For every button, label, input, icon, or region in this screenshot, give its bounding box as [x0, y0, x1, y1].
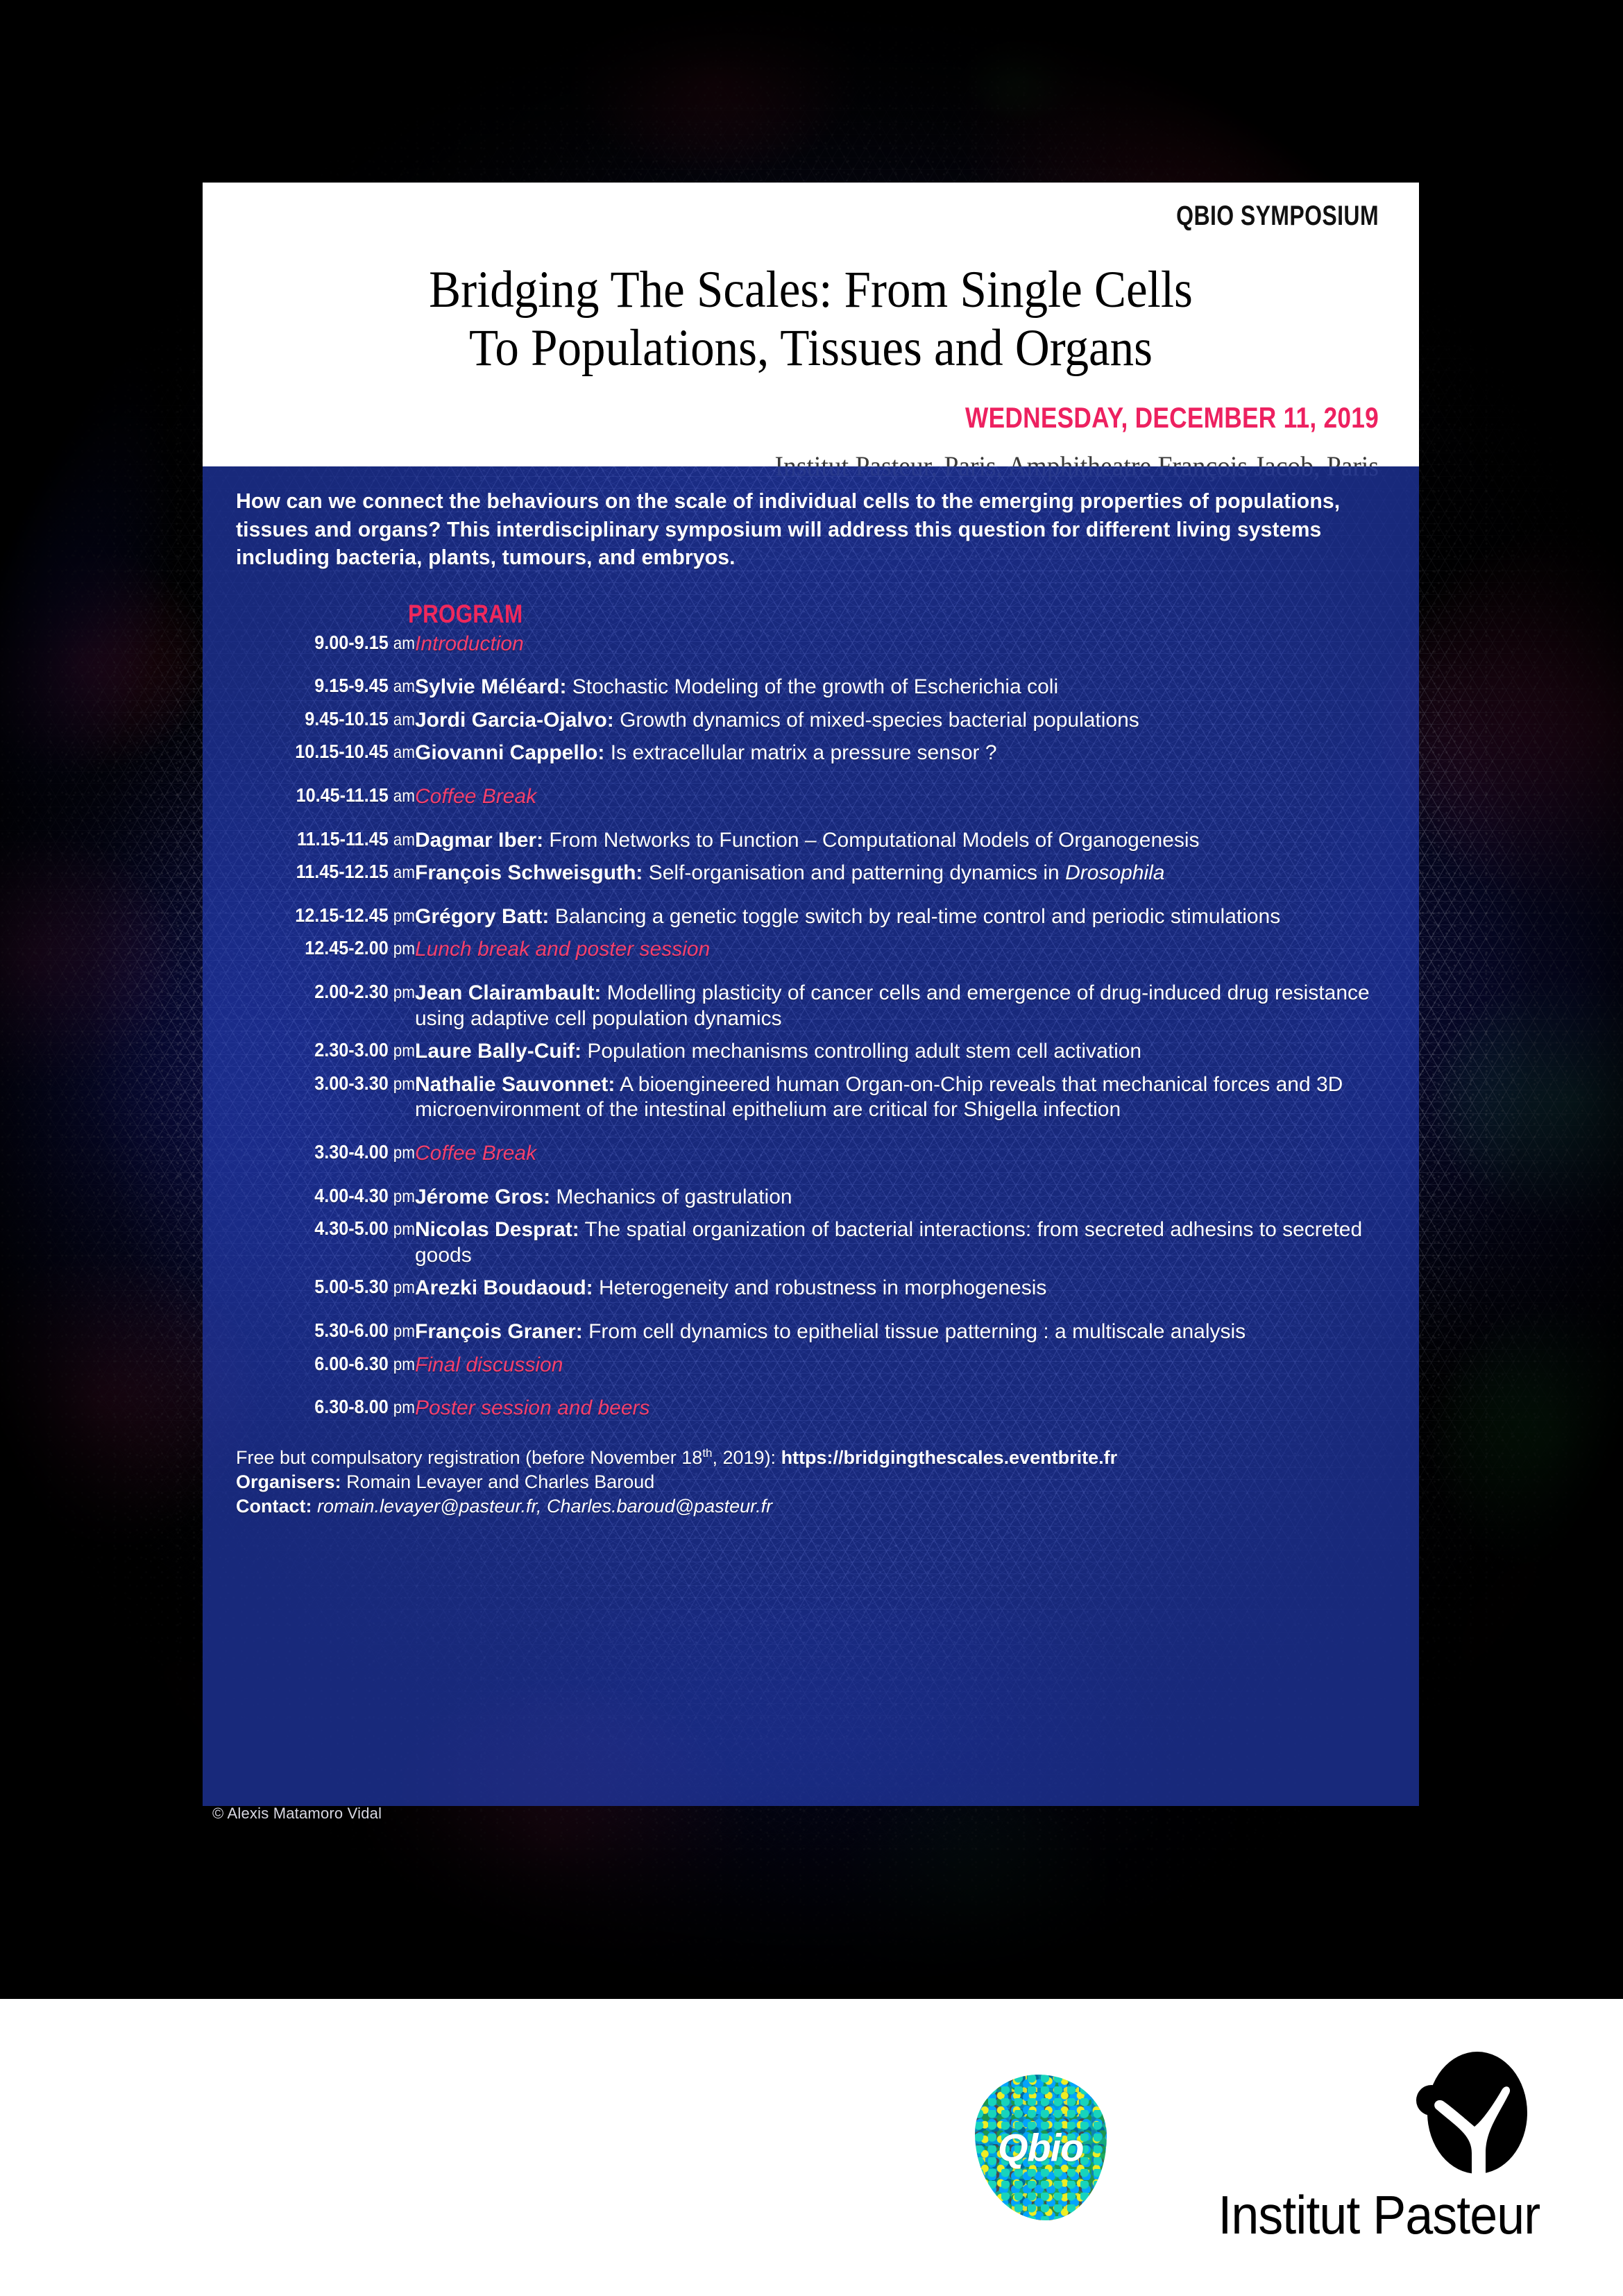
organisers-value: Romain Levayer and Charles Baroud — [341, 1471, 655, 1492]
organisers-line: Organisers: Romain Levayer and Charles B… — [236, 1470, 1386, 1494]
program-row-title: Lunch break and poster session — [415, 938, 710, 961]
program-row: 4.30-5.00 pmNicolas Desprat: The spatial… — [236, 1217, 1386, 1276]
program-row: 9.45-10.15 amJordi Garcia-Ojalvo: Growth… — [236, 708, 1386, 741]
program-row-description: François Schweisguth: Self-organisation … — [415, 861, 1386, 904]
program-row: 11.45-12.15 amFrançois Schweisguth: Self… — [236, 861, 1386, 904]
program-row-time: 9.45-10.15 am — [254, 708, 415, 741]
program-row-ampm: pm — [393, 1219, 415, 1239]
program-row-description: Jordi Garcia-Ojalvo: Growth dynamics of … — [415, 708, 1386, 741]
program-row-title: Stochastic Modeling of the growth of Esc… — [566, 675, 1058, 698]
poster-root: QBIO SYMPOSIUM Bridging The Scales: From… — [0, 0, 1623, 2296]
program-row-ampm: pm — [393, 1322, 415, 1341]
program-row-title: Coffee Break — [415, 785, 536, 808]
program-row-time: 3.30-4.00 pm — [254, 1141, 415, 1185]
program-row-time: 12.45-2.00 pm — [254, 937, 415, 981]
program-row-time: 9.15-9.45 am — [254, 675, 415, 708]
program-row-title: From cell dynamics to epithelial tissue … — [583, 1320, 1246, 1343]
contact-line: Contact: romain.levayer@pasteur.fr, Char… — [236, 1494, 1386, 1519]
program-row: 4.00-4.30 pmJérome Gros: Mechanics of ga… — [236, 1185, 1386, 1218]
program-row-speaker: Dagmar Iber: — [415, 829, 543, 852]
program-row-time: 11.45-12.15 am — [254, 861, 415, 904]
program-row-title: Self-organisation and patterning dynamic… — [643, 861, 1065, 884]
organisers-label: Organisers: — [236, 1471, 341, 1492]
program-row-speaker: Arezki Boudaoud: — [415, 1276, 593, 1299]
footer-notes: Free but compulsatory registration (befo… — [236, 1446, 1386, 1519]
event-date: WEDNESDAY, DECEMBER 11, 2019 — [425, 401, 1379, 434]
pasteur-figure-icon — [1408, 2049, 1540, 2188]
program-row-title: Population mechanisms controlling adult … — [581, 1040, 1141, 1063]
program-row-time: 4.30-5.00 pm — [254, 1217, 415, 1276]
institut-pasteur-label: Institut Pasteur — [1218, 2184, 1540, 2247]
program-row: 12.15-12.45 pmGrégory Batt: Balancing a … — [236, 904, 1386, 938]
program-row-time: 9.00-9.15 am — [254, 632, 415, 675]
program-row-ampm: am — [393, 863, 415, 882]
program-row-time: 2.00-2.30 pm — [254, 981, 415, 1039]
program-row: 5.30-6.00 pmFrançois Graner: From cell d… — [236, 1319, 1386, 1353]
program-row-ampm: pm — [393, 1187, 415, 1206]
program-row-speaker: Nicolas Desprat: — [415, 1218, 579, 1241]
program-row-time: 5.00-5.30 pm — [254, 1276, 415, 1319]
program-row-time: 6.30-8.00 pm — [254, 1396, 415, 1429]
program-row-description: Laure Bally-Cuif: Population mechanisms … — [415, 1039, 1386, 1072]
program-row: 9.00-9.15 amIntroduction — [236, 632, 1386, 675]
page-title: Bridging The Scales: From Single Cells T… — [288, 261, 1333, 378]
program-row: 5.00-5.30 pmArezki Boudaoud: Heterogenei… — [236, 1276, 1386, 1319]
program-row: 6.00-6.30 pmFinal discussion — [236, 1353, 1386, 1396]
title-line-1: Bridging The Scales: From Single Cells — [288, 261, 1333, 319]
program-row-ampm: pm — [393, 1355, 415, 1374]
program-row-speaker: François Graner: — [415, 1320, 583, 1343]
program-row-description: Coffee Break — [415, 1141, 1386, 1185]
program-row-title: From Networks to Function – Computationa… — [543, 829, 1199, 852]
registration-mid: , 2019): — [713, 1447, 781, 1468]
program-row-title: Balancing a genetic toggle switch by rea… — [549, 905, 1280, 928]
program-row-description: Coffee Break — [415, 784, 1386, 828]
program-row-time: 10.15-10.45 am — [254, 741, 415, 784]
program-row-speaker: Nathalie Sauvonnet: — [415, 1073, 615, 1096]
program-row-description: Sylvie Méléard: Stochastic Modeling of t… — [415, 675, 1386, 708]
program-row: 2.30-3.00 pmLaure Bally-Cuif: Population… — [236, 1039, 1386, 1072]
program-row-title-italic: Drosophila — [1065, 861, 1164, 884]
program-row-ampm: am — [393, 677, 415, 696]
program-row-time: 12.15-12.45 pm — [254, 904, 415, 938]
program-row-ampm: am — [393, 743, 415, 762]
program-row-speaker: Laure Bally-Cuif: — [415, 1040, 581, 1063]
program-row-speaker: Jérome Gros: — [415, 1185, 550, 1208]
registration-sup: th — [702, 1446, 712, 1460]
qbio-logo-label: Qbio — [975, 2125, 1107, 2170]
program-row-description: Jean Clairambault: Modelling plasticity … — [415, 981, 1386, 1039]
program-row-time: 3.00-3.30 pm — [254, 1072, 415, 1141]
contact-value[interactable]: romain.levayer@pasteur.fr, Charles.barou… — [312, 1496, 773, 1517]
program-row-title: Is extracellular matrix a pressure senso… — [604, 741, 996, 764]
program-row-time: 10.45-11.15 am — [254, 784, 415, 828]
program-row-title: Introduction — [415, 632, 524, 655]
program-row: 2.00-2.30 pmJean Clairambault: Modelling… — [236, 981, 1386, 1039]
program-panel: How can we connect the behaviours on the… — [203, 466, 1419, 1806]
program-row-description: François Graner: From cell dynamics to e… — [415, 1319, 1386, 1353]
program-row-ampm: pm — [393, 1398, 415, 1417]
program-row-ampm: pm — [393, 983, 415, 1002]
program-row-ampm: am — [393, 634, 415, 653]
program-row-description: Dagmar Iber: From Networks to Function –… — [415, 828, 1386, 861]
program-row: 12.45-2.00 pmLunch break and poster sess… — [236, 937, 1386, 981]
program-row-description: Nicolas Desprat: The spatial organizatio… — [415, 1217, 1386, 1276]
program-row-ampm: am — [393, 710, 415, 729]
program-row-time: 5.30-6.00 pm — [254, 1319, 415, 1353]
program-row-ampm: pm — [393, 1278, 415, 1297]
contact-label: Contact: — [236, 1496, 312, 1517]
program-row-description: Final discussion — [415, 1353, 1386, 1396]
program-row-description: Jérome Gros: Mechanics of gastrulation — [415, 1185, 1386, 1218]
program-row-time: 2.30-3.00 pm — [254, 1039, 415, 1072]
program-row-ampm: pm — [393, 906, 415, 926]
image-credit: © Alexis Matamoro Vidal — [212, 1805, 382, 1823]
program-row-description: Giovanni Cappello: Is extracellular matr… — [415, 741, 1386, 784]
program-row: 3.00-3.30 pmNathalie Sauvonnet: A bioeng… — [236, 1072, 1386, 1141]
logo-footer: Qbio Institut Pasteur — [0, 1999, 1623, 2296]
registration-prefix: Free but compulsatory registration (befo… — [236, 1447, 702, 1468]
program-row-time: 6.00-6.30 pm — [254, 1353, 415, 1396]
program-row-time: 11.15-11.45 am — [254, 828, 415, 861]
program-row: 3.30-4.00 pmCoffee Break — [236, 1141, 1386, 1185]
program-row: 10.45-11.15 amCoffee Break — [236, 784, 1386, 828]
program-row-speaker: Sylvie Méléard: — [415, 675, 566, 698]
program-table: 9.00-9.15 amIntroduction9.15-9.45 amSylv… — [236, 632, 1386, 1429]
program-row-description: Introduction — [415, 632, 1386, 675]
program-heading: PROGRAM — [408, 600, 1239, 629]
program-row-speaker: Giovanni Cappello: — [415, 741, 604, 764]
program-row-speaker: Jean Clairambault: — [415, 981, 601, 1004]
program-row-ampm: pm — [393, 1041, 415, 1061]
registration-url[interactable]: https://bridgingthescales.eventbrite.fr — [781, 1447, 1118, 1468]
header-card: QBIO SYMPOSIUM Bridging The Scales: From… — [203, 183, 1419, 466]
program-row: 11.15-11.45 amDagmar Iber: From Networks… — [236, 828, 1386, 861]
registration-line: Free but compulsatory registration (befo… — [236, 1446, 1386, 1470]
program-row-speaker: Jordi Garcia-Ojalvo: — [415, 709, 614, 732]
symposium-kicker: QBIO SYMPOSIUM — [470, 201, 1379, 232]
program-row-title: Heterogeneity and robustness in morphoge… — [593, 1276, 1047, 1299]
program-row: 6.30-8.00 pmPoster session and beers — [236, 1396, 1386, 1429]
program-row-description: Arezki Boudaoud: Heterogeneity and robus… — [415, 1276, 1386, 1319]
intro-paragraph: How can we connect the behaviours on the… — [236, 487, 1374, 572]
program-row-ampm: am — [393, 830, 415, 850]
program-row-title: Coffee Break — [415, 1142, 536, 1165]
program-row-title: Poster session and beers — [415, 1396, 650, 1419]
program-row-ampm: pm — [393, 1074, 415, 1094]
program-row-description: Poster session and beers — [415, 1396, 1386, 1429]
program-row-ampm: pm — [393, 1143, 415, 1163]
title-line-2: To Populations, Tissues and Organs — [288, 319, 1333, 378]
program-row-title: Mechanics of gastrulation — [550, 1185, 792, 1208]
program-row-time: 4.00-4.30 pm — [254, 1185, 415, 1218]
program-row: 10.15-10.45 amGiovanni Cappello: Is extr… — [236, 741, 1386, 784]
institut-pasteur-logo: Institut Pasteur — [1190, 2049, 1540, 2247]
program-row-speaker: Grégory Batt: — [415, 905, 549, 928]
program-row-description: Lunch break and poster session — [415, 937, 1386, 981]
program-row-speaker: François Schweisguth: — [415, 861, 643, 884]
program-row-description: Nathalie Sauvonnet: A bioengineered huma… — [415, 1072, 1386, 1141]
program-row-ampm: am — [393, 786, 415, 806]
qbio-logo: Qbio — [975, 2075, 1107, 2220]
program-row-ampm: pm — [393, 939, 415, 959]
program-row: 9.15-9.45 amSylvie Méléard: Stochastic M… — [236, 675, 1386, 708]
program-row-title: Growth dynamics of mixed-species bacteri… — [614, 709, 1139, 732]
program-row-description: Grégory Batt: Balancing a genetic toggle… — [415, 904, 1386, 938]
program-row-title: Final discussion — [415, 1353, 563, 1376]
